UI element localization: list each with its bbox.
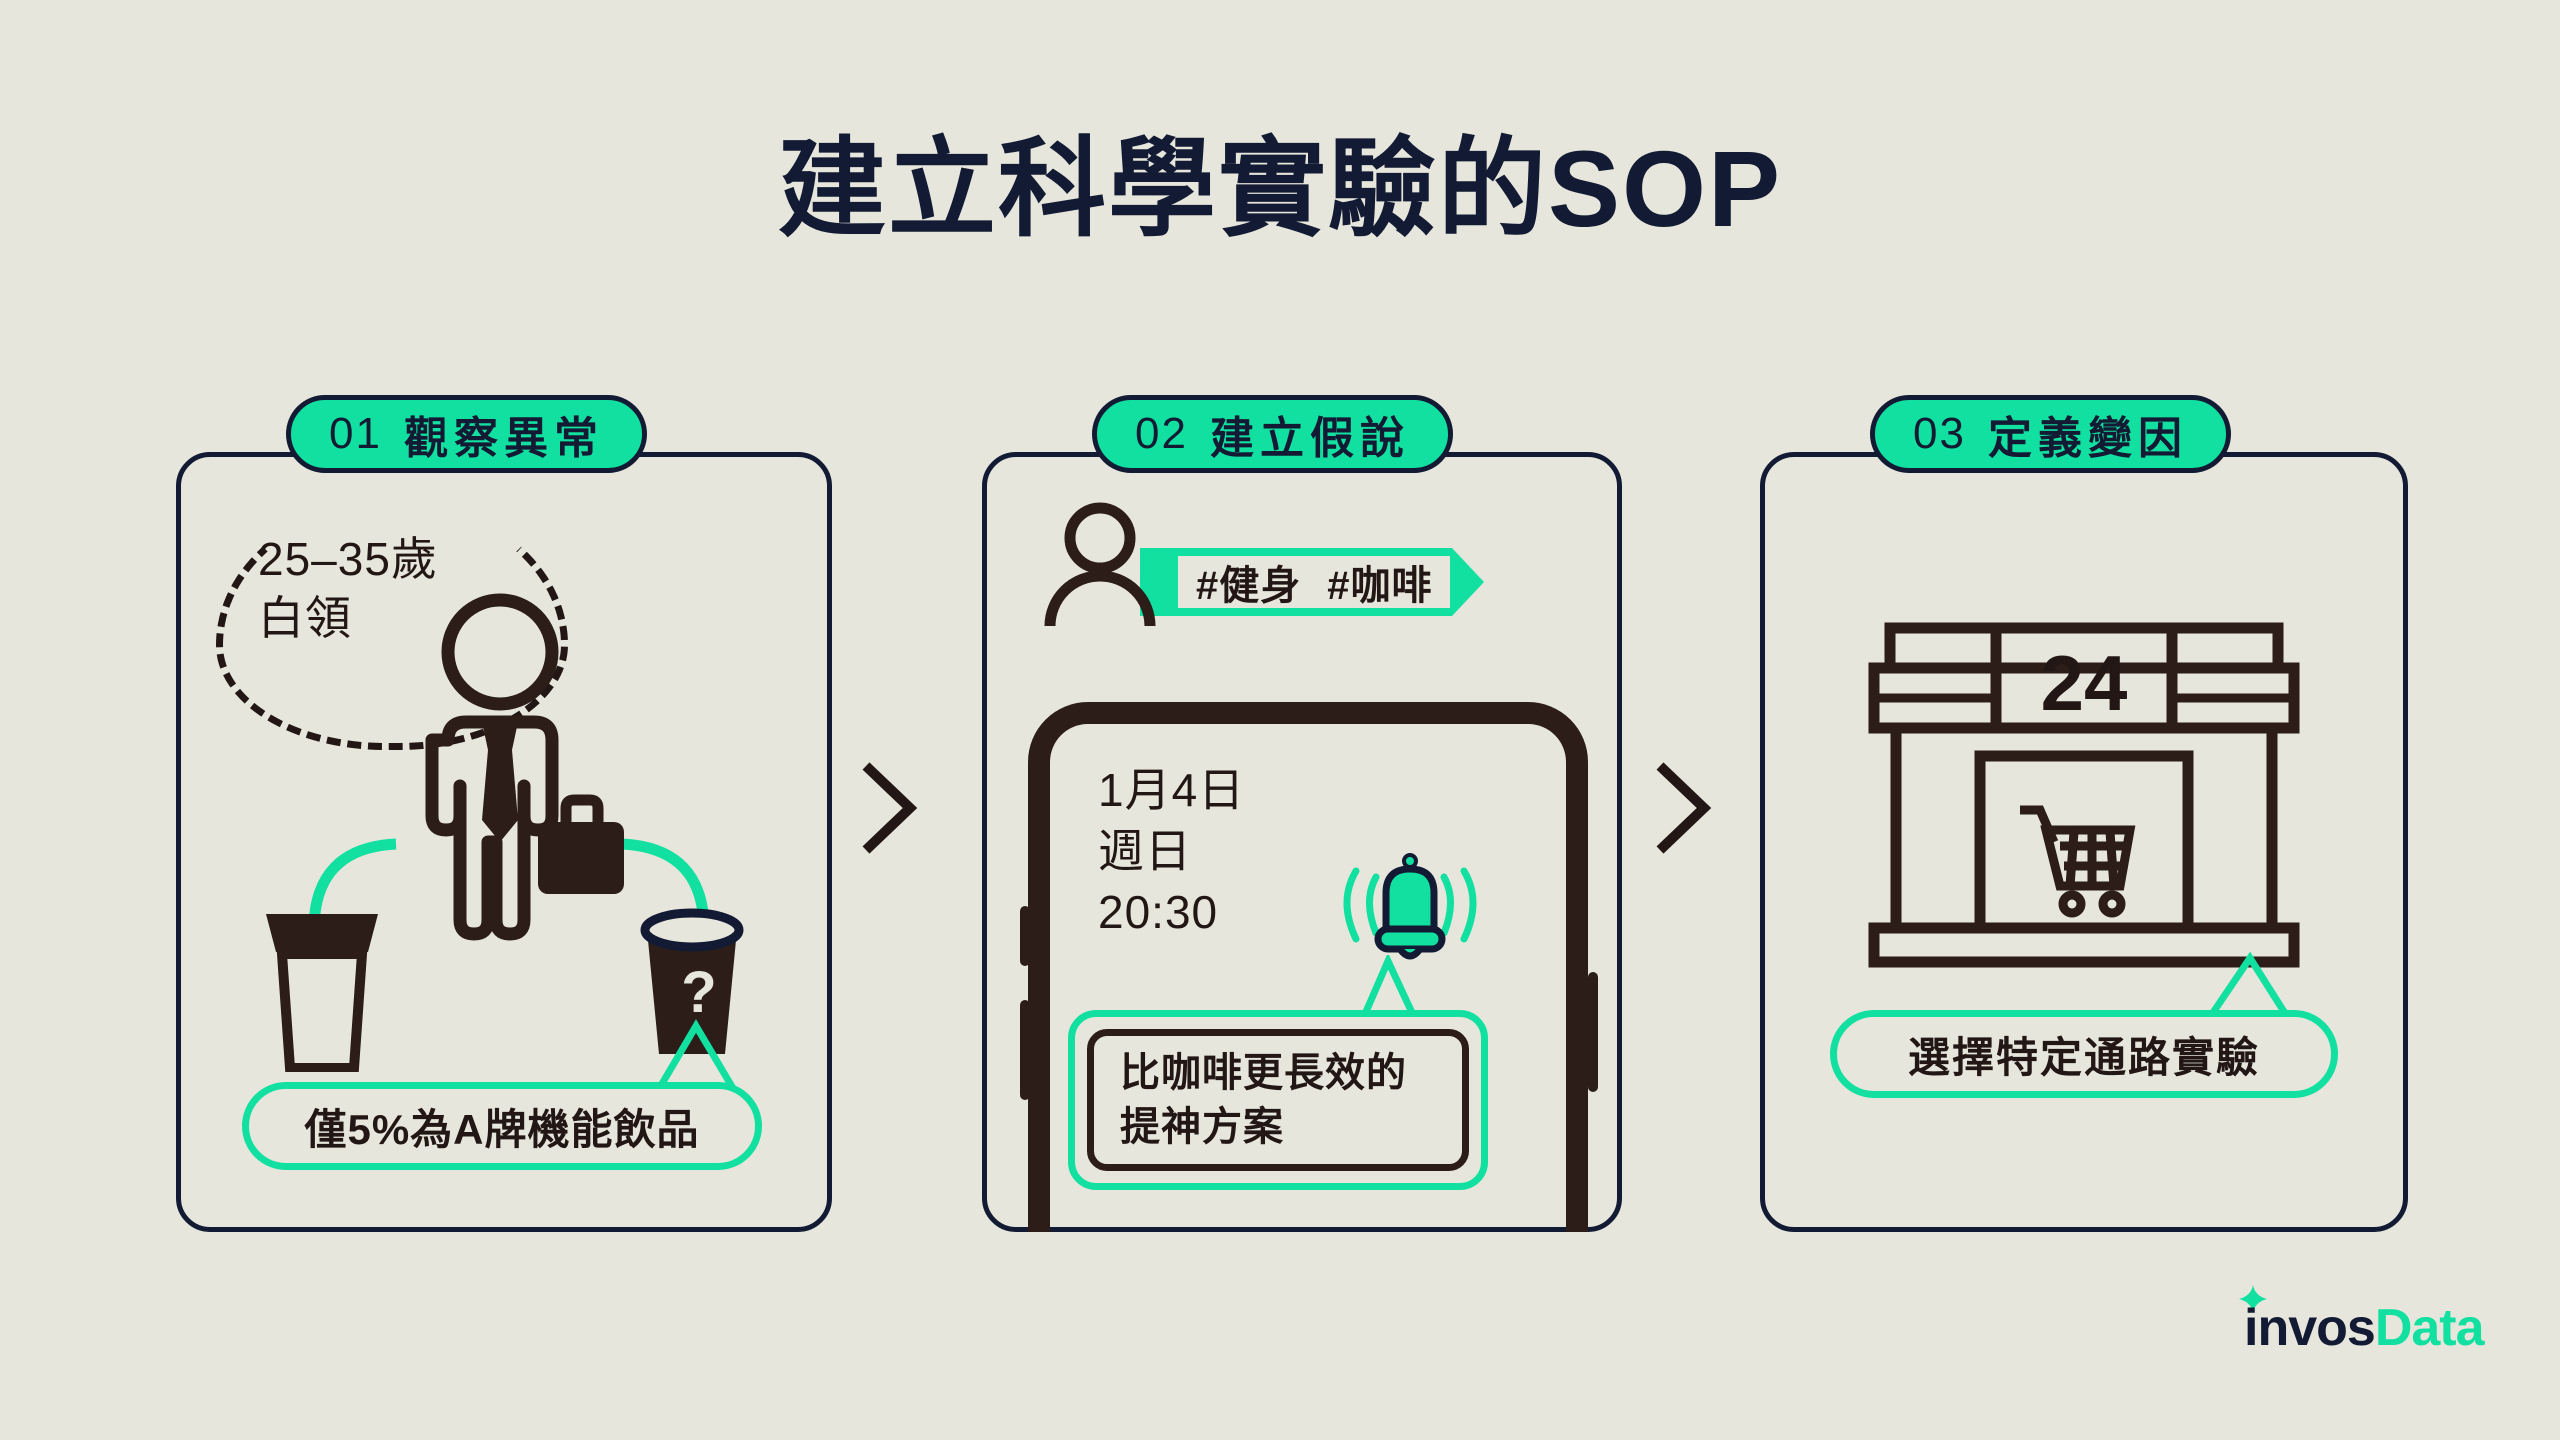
logo-data-text: Data (2375, 1298, 2484, 1358)
step-2-label: 建立假說 (1210, 402, 1410, 466)
phone-volume-down-button[interactable] (1020, 1000, 1030, 1100)
step-1-label: 觀察異常 (404, 402, 604, 466)
phone-datetime: 1月4日 週日 20:30 (1098, 760, 1245, 944)
hypothesis-line-1: 比咖啡更長效的 (1120, 1046, 1462, 1100)
businessman-icon (370, 590, 630, 950)
hypothesis-message-box: 比咖啡更長效的 提神方案 (1068, 1010, 1488, 1190)
store-sign-number: 24 (2041, 639, 2128, 727)
chevron-right-icon (858, 760, 918, 856)
step-3-number: 03 (1913, 409, 1966, 459)
step-1-caption-text: 僅5%為A牌機能飲品 (304, 1096, 699, 1157)
hypothesis-line-2: 提神方案 (1120, 1100, 1462, 1154)
step-3-caption: 選擇特定通路實驗 (1830, 1010, 2338, 1098)
hashtag-2: #咖啡 (1327, 553, 1432, 611)
chevron-right-icon (1652, 760, 1712, 856)
hypothesis-message-inner: 比咖啡更長效的 提神方案 (1087, 1029, 1469, 1171)
step-badge-1[interactable]: 01 觀察異常 (286, 395, 647, 473)
convenience-store-icon: 24 (1868, 598, 2300, 970)
hashtag-list: #健身 #咖啡 (1196, 551, 1433, 613)
step-2-number: 02 (1135, 409, 1188, 459)
phone-weekday-text: 週日 (1098, 821, 1245, 882)
brand-logo[interactable]: invos Data (2244, 1298, 2484, 1358)
page-title: 建立科學實驗的SOP (0, 130, 2560, 249)
step-1-caption: 僅5%為A牌機能飲品 (242, 1082, 762, 1170)
step-3-caption-text: 選擇特定通路實驗 (1908, 1024, 2260, 1085)
phone-date-text: 1月4日 (1098, 760, 1245, 821)
coffee-cup-icon (262, 912, 382, 1072)
logo-invos-text: invos (2244, 1298, 2375, 1358)
phone-power-button[interactable] (1588, 972, 1598, 1092)
user-avatar-icon (1042, 500, 1158, 630)
phone-time-text: 20:30 (1098, 882, 1245, 943)
step-badge-3[interactable]: 03 定義變因 (1870, 395, 2231, 473)
step-1-number: 01 (329, 409, 382, 459)
shopping-cart-icon (2020, 810, 2130, 913)
step-badge-2[interactable]: 02 建立假說 (1092, 395, 1453, 473)
phone-volume-up-button[interactable] (1020, 906, 1030, 966)
infographic-canvas: 建立科學實驗的SOP 01 觀察異常 25–35歲 白領 ? 僅5%為A牌機能飲… (0, 0, 2560, 1440)
notification-bell-icon (1330, 845, 1490, 965)
step-3-label: 定義變因 (1988, 402, 2188, 466)
svg-text:?: ? (681, 960, 716, 1025)
hashtag-1: #健身 (1196, 553, 1301, 611)
